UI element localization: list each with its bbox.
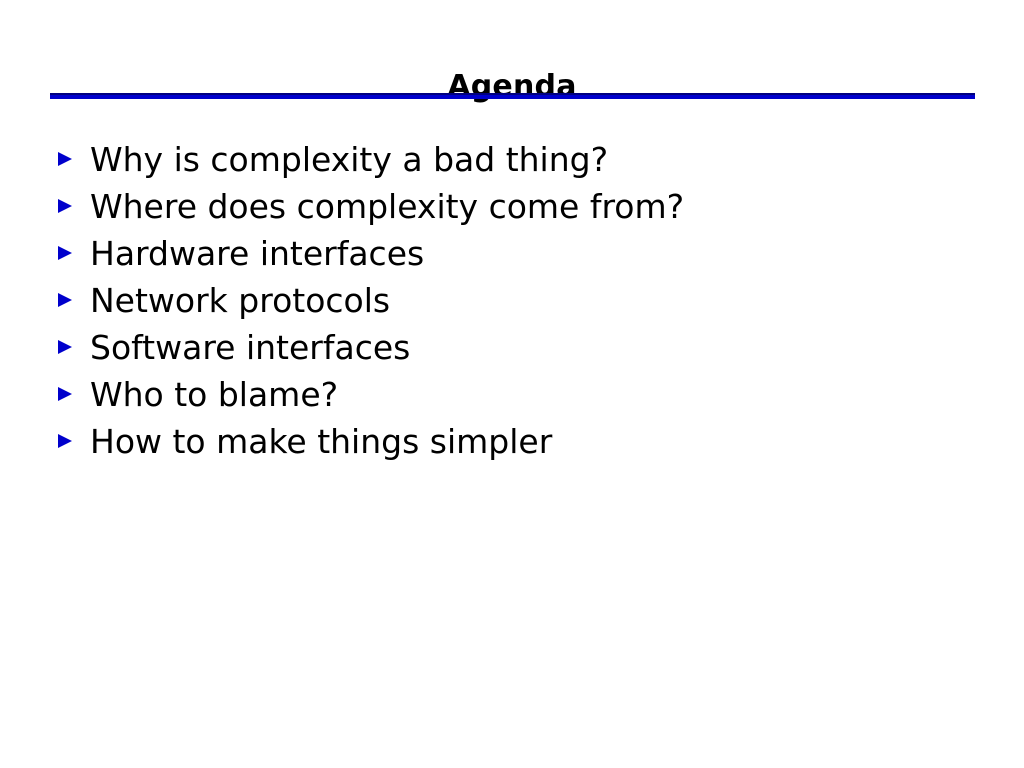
list-item-label: Where does complexity come from? (90, 185, 998, 229)
list-item: How to make things simpler (58, 420, 998, 467)
title-divider-rule (50, 93, 975, 99)
triangle-right-icon (58, 152, 72, 166)
triangle-right-icon (58, 340, 72, 354)
list-item-label: How to make things simpler (90, 420, 998, 464)
list-item-label: Hardware interfaces (90, 232, 998, 276)
list-item: Where does complexity come from? (58, 185, 998, 232)
list-item: Software interfaces (58, 326, 998, 373)
triangle-right-icon (58, 246, 72, 260)
triangle-right-icon (58, 434, 72, 448)
page-title: Agenda (0, 69, 1024, 105)
triangle-right-icon (58, 293, 72, 307)
triangle-right-icon (58, 387, 72, 401)
list-item-label: Why is complexity a bad thing? (90, 138, 998, 182)
list-item: Hardware interfaces (58, 232, 998, 279)
list-item: Why is complexity a bad thing? (58, 138, 998, 185)
list-item: Who to blame? (58, 373, 998, 420)
presentation-slide: Agenda Why is complexity a bad thing? Wh… (0, 0, 1024, 768)
list-item-label: Who to blame? (90, 373, 998, 417)
triangle-right-icon (58, 199, 72, 213)
list-item-label: Software interfaces (90, 326, 998, 370)
list-item-label: Network protocols (90, 279, 998, 323)
agenda-bullet-list: Why is complexity a bad thing? Where doe… (58, 138, 998, 467)
list-item: Network protocols (58, 279, 998, 326)
